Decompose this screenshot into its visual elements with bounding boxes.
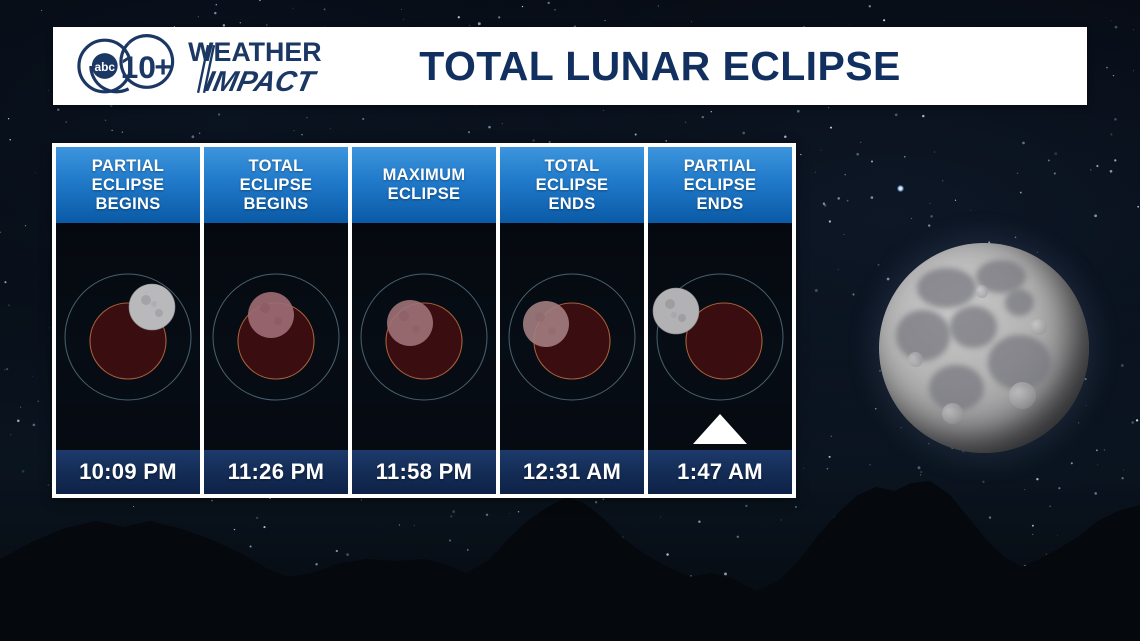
svg-text:10: 10	[121, 49, 156, 85]
stage-header-line2: ECLIPSE	[92, 176, 165, 194]
eclipse-stage-column[interactable]: MAXIMUM ECLIPSE 11:58 PM	[352, 147, 496, 494]
stage-header-line2: ECLIPSE	[536, 176, 609, 194]
mountain-silhouette	[0, 481, 1140, 641]
stage-diagram	[56, 223, 200, 450]
eclipse-diagram-svg	[58, 262, 198, 412]
eclipse-stage-column[interactable]: PARTIAL ECLIPSE ENDS 1:47 AM	[648, 147, 792, 494]
eclipse-stage-column[interactable]: TOTAL ECLIPSE BEGINS 11:26 PM	[204, 147, 348, 494]
header-bar: abc 10 + WEATHER IMPACT TOTAL LUNAR ECLI…	[53, 27, 1087, 105]
page-title: TOTAL LUNAR ECLIPSE	[353, 43, 1087, 90]
stage-header-line3: BEGINS	[95, 195, 160, 213]
stage-time: 10:09 PM	[56, 450, 200, 494]
abc10-weather-impact-logo: abc 10 + WEATHER IMPACT	[53, 27, 353, 105]
eclipse-diagram-svg	[502, 262, 642, 412]
stage-header-line2: ECLIPSE	[388, 185, 461, 203]
stage-header-line3: BEGINS	[243, 195, 308, 213]
logo-artwork: abc 10 + WEATHER IMPACT	[69, 33, 353, 99]
eclipse-diagram-svg	[650, 262, 790, 412]
svg-text:abc: abc	[94, 60, 115, 74]
stage-diagram	[204, 223, 348, 450]
stage-header-line1: PARTIAL	[684, 157, 756, 175]
eclipse-stage-column[interactable]: TOTAL ECLIPSE ENDS 12:31 AM	[500, 147, 644, 494]
stage-header: MAXIMUM ECLIPSE	[352, 147, 496, 223]
stage-header-line2: ECLIPSE	[240, 176, 313, 194]
stage-header-line1: MAXIMUM	[383, 166, 466, 184]
stage-header-line3: ENDS	[696, 195, 743, 213]
brand-weather: WEATHER	[188, 37, 321, 67]
svg-text:+: +	[154, 51, 171, 84]
stage-header: TOTAL ECLIPSE BEGINS	[204, 147, 348, 223]
stage-header-line2: ECLIPSE	[684, 176, 757, 194]
eclipse-diagram-svg	[206, 262, 346, 412]
stage-header: PARTIAL ECLIPSE ENDS	[648, 147, 792, 223]
eclipse-stage-column[interactable]: PARTIAL ECLIPSE BEGINS 10:09 PM	[56, 147, 200, 494]
stage-diagram	[500, 223, 644, 450]
current-stage-marker	[693, 414, 747, 444]
brand-impact: IMPACT	[202, 66, 319, 98]
stage-time: 11:58 PM	[352, 450, 496, 494]
stage-diagram	[352, 223, 496, 450]
eclipse-diagram-svg	[354, 262, 494, 412]
stage-time: 1:47 AM	[648, 450, 792, 494]
stage-time: 12:31 AM	[500, 450, 644, 494]
bright-star	[897, 185, 904, 192]
stage-header: PARTIAL ECLIPSE BEGINS	[56, 147, 200, 223]
stage-diagram	[648, 223, 792, 450]
graphic-stage: abc 10 + WEATHER IMPACT TOTAL LUNAR ECLI…	[0, 0, 1140, 641]
stage-header: TOTAL ECLIPSE ENDS	[500, 147, 644, 223]
full-moon-photo	[879, 243, 1089, 453]
stage-header-line1: PARTIAL	[92, 157, 164, 175]
stage-time: 11:26 PM	[204, 450, 348, 494]
eclipse-timeline-table: PARTIAL ECLIPSE BEGINS 10:09 PM	[52, 143, 796, 498]
stage-header-line1: TOTAL	[249, 157, 304, 175]
stage-header-line3: ENDS	[548, 195, 595, 213]
stage-header-line1: TOTAL	[545, 157, 600, 175]
